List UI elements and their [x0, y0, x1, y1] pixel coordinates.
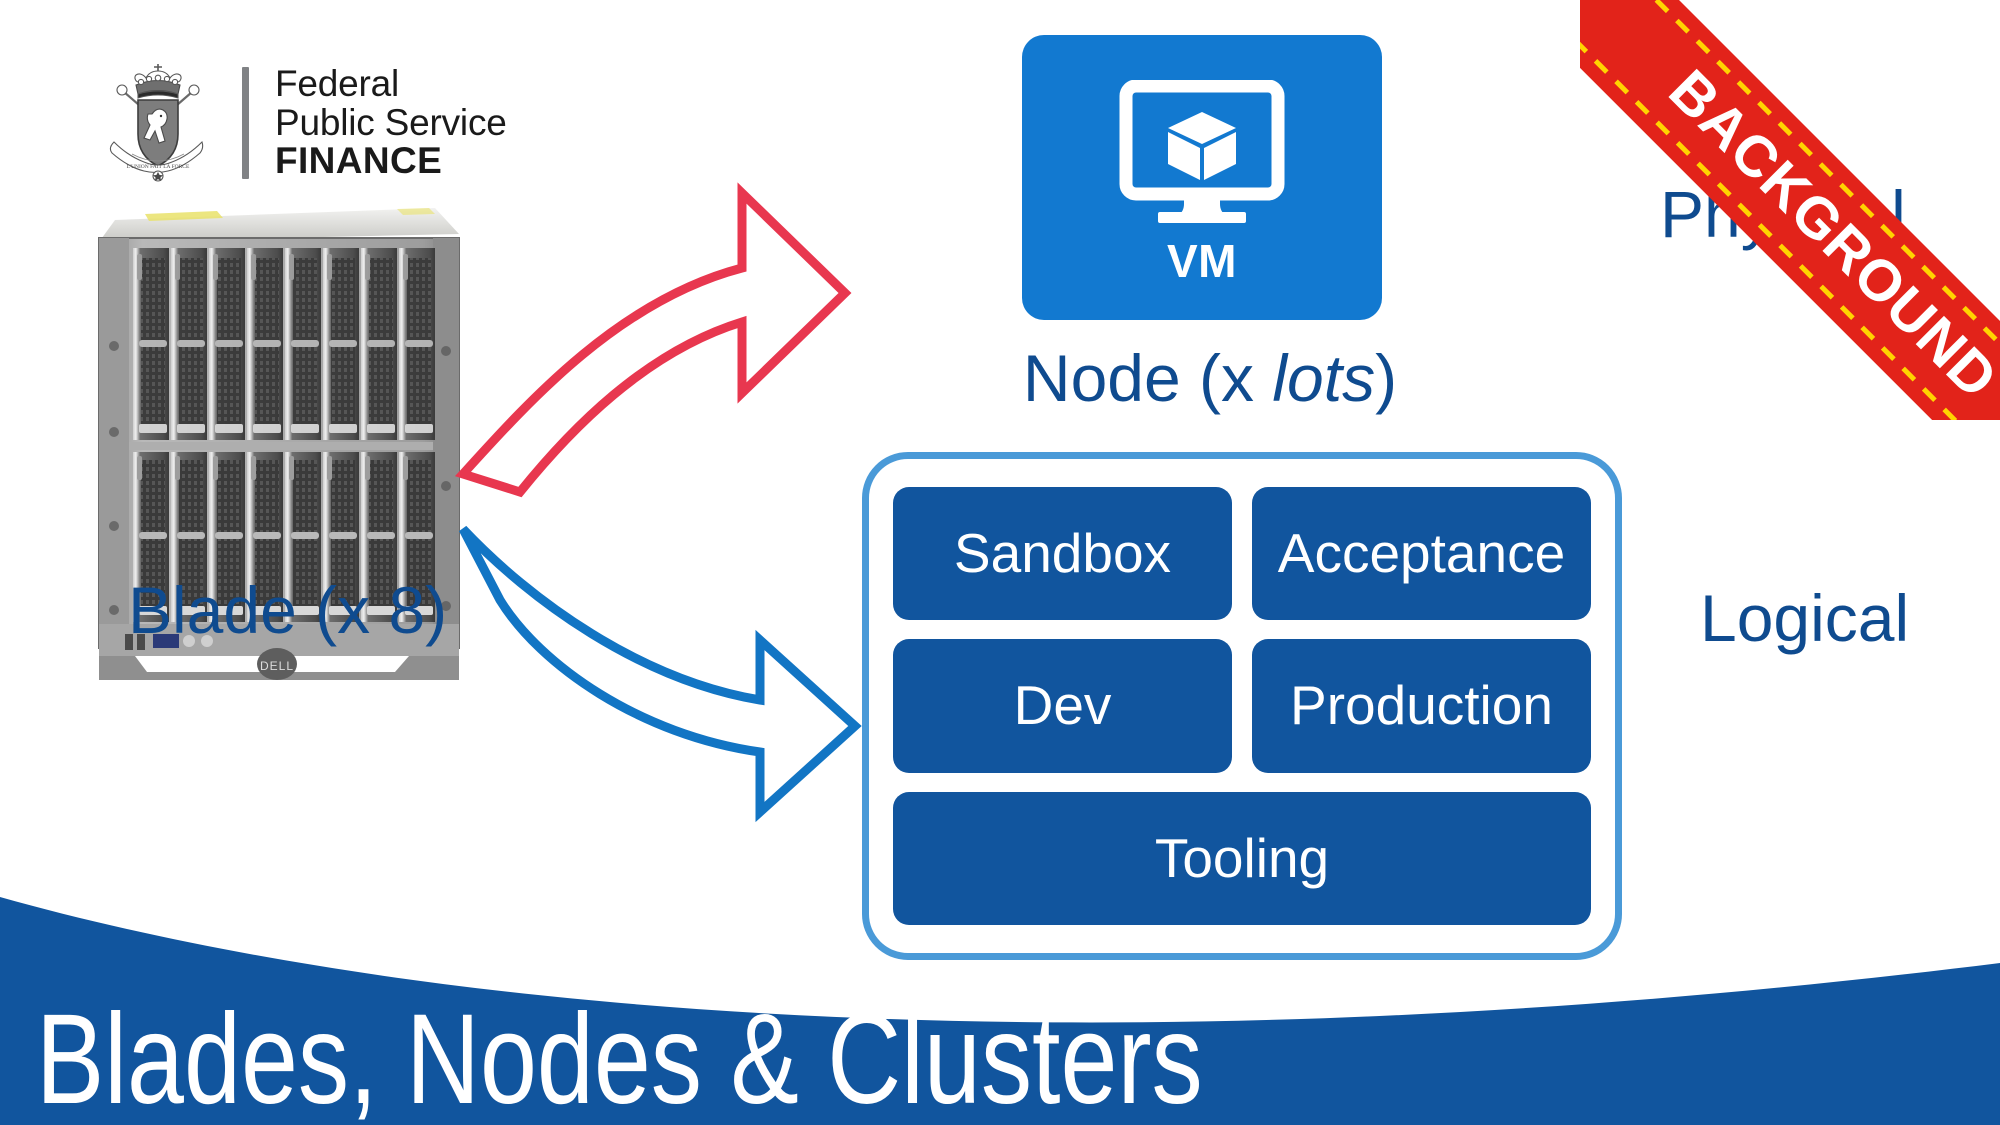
blade-to-cluster-arrow — [463, 529, 855, 812]
node-caption-emphasis: lots — [1272, 341, 1375, 415]
logo-divider — [242, 67, 249, 179]
svg-text:DELL: DELL — [260, 659, 294, 673]
env-tile-production[interactable]: Production — [1252, 639, 1591, 772]
ribbon-label: BACKGROUND — [1657, 58, 2000, 412]
env-tile-acceptance[interactable]: Acceptance — [1252, 487, 1591, 620]
cluster-row: Sandbox Acceptance — [893, 487, 1591, 620]
vm-node-tile[interactable]: VM — [1022, 35, 1382, 320]
node-caption: Node (x lots) — [960, 340, 1460, 416]
svg-text:L'UNION FAIT LA FORCE: L'UNION FAIT LA FORCE — [127, 164, 190, 170]
label-logical: Logical — [1700, 580, 1909, 656]
logo-line-1: Federal — [275, 65, 507, 103]
cluster-row: Dev Production — [893, 639, 1591, 772]
node-caption-prefix: Node (x — [1023, 341, 1272, 415]
monitor-cube-icon — [1118, 80, 1286, 230]
logo-line-2: Public Service — [275, 104, 507, 142]
env-tile-sandbox[interactable]: Sandbox — [893, 487, 1232, 620]
vm-tile-label: VM — [1167, 234, 1237, 288]
bottom-banner: Blades, Nodes & Clusters — [0, 845, 2000, 1125]
fps-finance-logo: L'UNION FAIT LA FORCE Federal Public Ser… — [88, 58, 507, 188]
env-tile-dev[interactable]: Dev — [893, 639, 1232, 772]
background-ribbon: BACKGROUND — [1580, 0, 2000, 420]
node-caption-suffix: ) — [1375, 341, 1397, 415]
blade-caption: Blade (x 8) — [128, 572, 447, 648]
logo-line-3: FINANCE — [275, 142, 507, 180]
slide-title: Blades, Nodes & Clusters — [36, 988, 1203, 1125]
slide-canvas: L'UNION FAIT LA FORCE Federal Public Ser… — [0, 0, 2000, 1125]
blade-to-node-arrow — [463, 193, 845, 492]
belgian-crest-icon: L'UNION FAIT LA FORCE — [88, 58, 228, 188]
